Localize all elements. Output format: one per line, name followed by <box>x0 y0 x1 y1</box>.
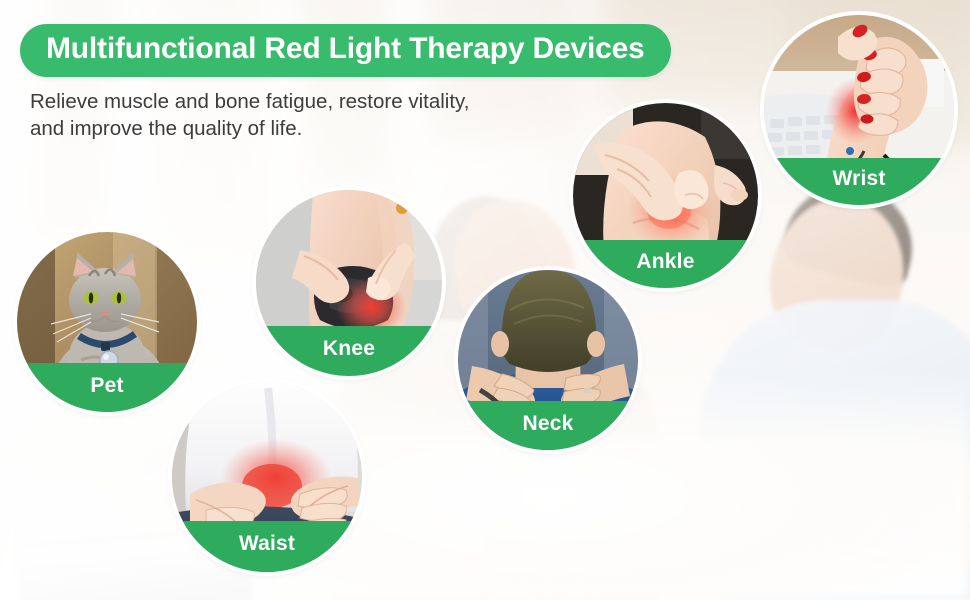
card-label-wrist: Wrist <box>764 158 954 206</box>
feature-card-knee[interactable]: Knee <box>256 190 442 376</box>
card-label-knee: Knee <box>256 326 442 376</box>
card-label-waist: Waist <box>172 521 362 572</box>
feature-card-waist[interactable]: Waist <box>172 382 362 572</box>
card-label-pet: Pet <box>17 363 197 412</box>
feature-card-neck[interactable]: Neck <box>458 270 638 450</box>
card-label-neck: Neck <box>458 401 638 450</box>
page-title: Multifunctional Red Light Therapy Device… <box>20 24 671 77</box>
feature-card-wrist[interactable]: Wrist <box>764 15 954 205</box>
promo-banner: Multifunctional Red Light Therapy Device… <box>0 0 970 600</box>
feature-card-ankle[interactable]: Ankle <box>573 103 758 288</box>
feature-card-pet[interactable]: Pet <box>17 232 197 412</box>
subtitle-text: Relieve muscle and bone fatigue, restore… <box>30 88 469 142</box>
